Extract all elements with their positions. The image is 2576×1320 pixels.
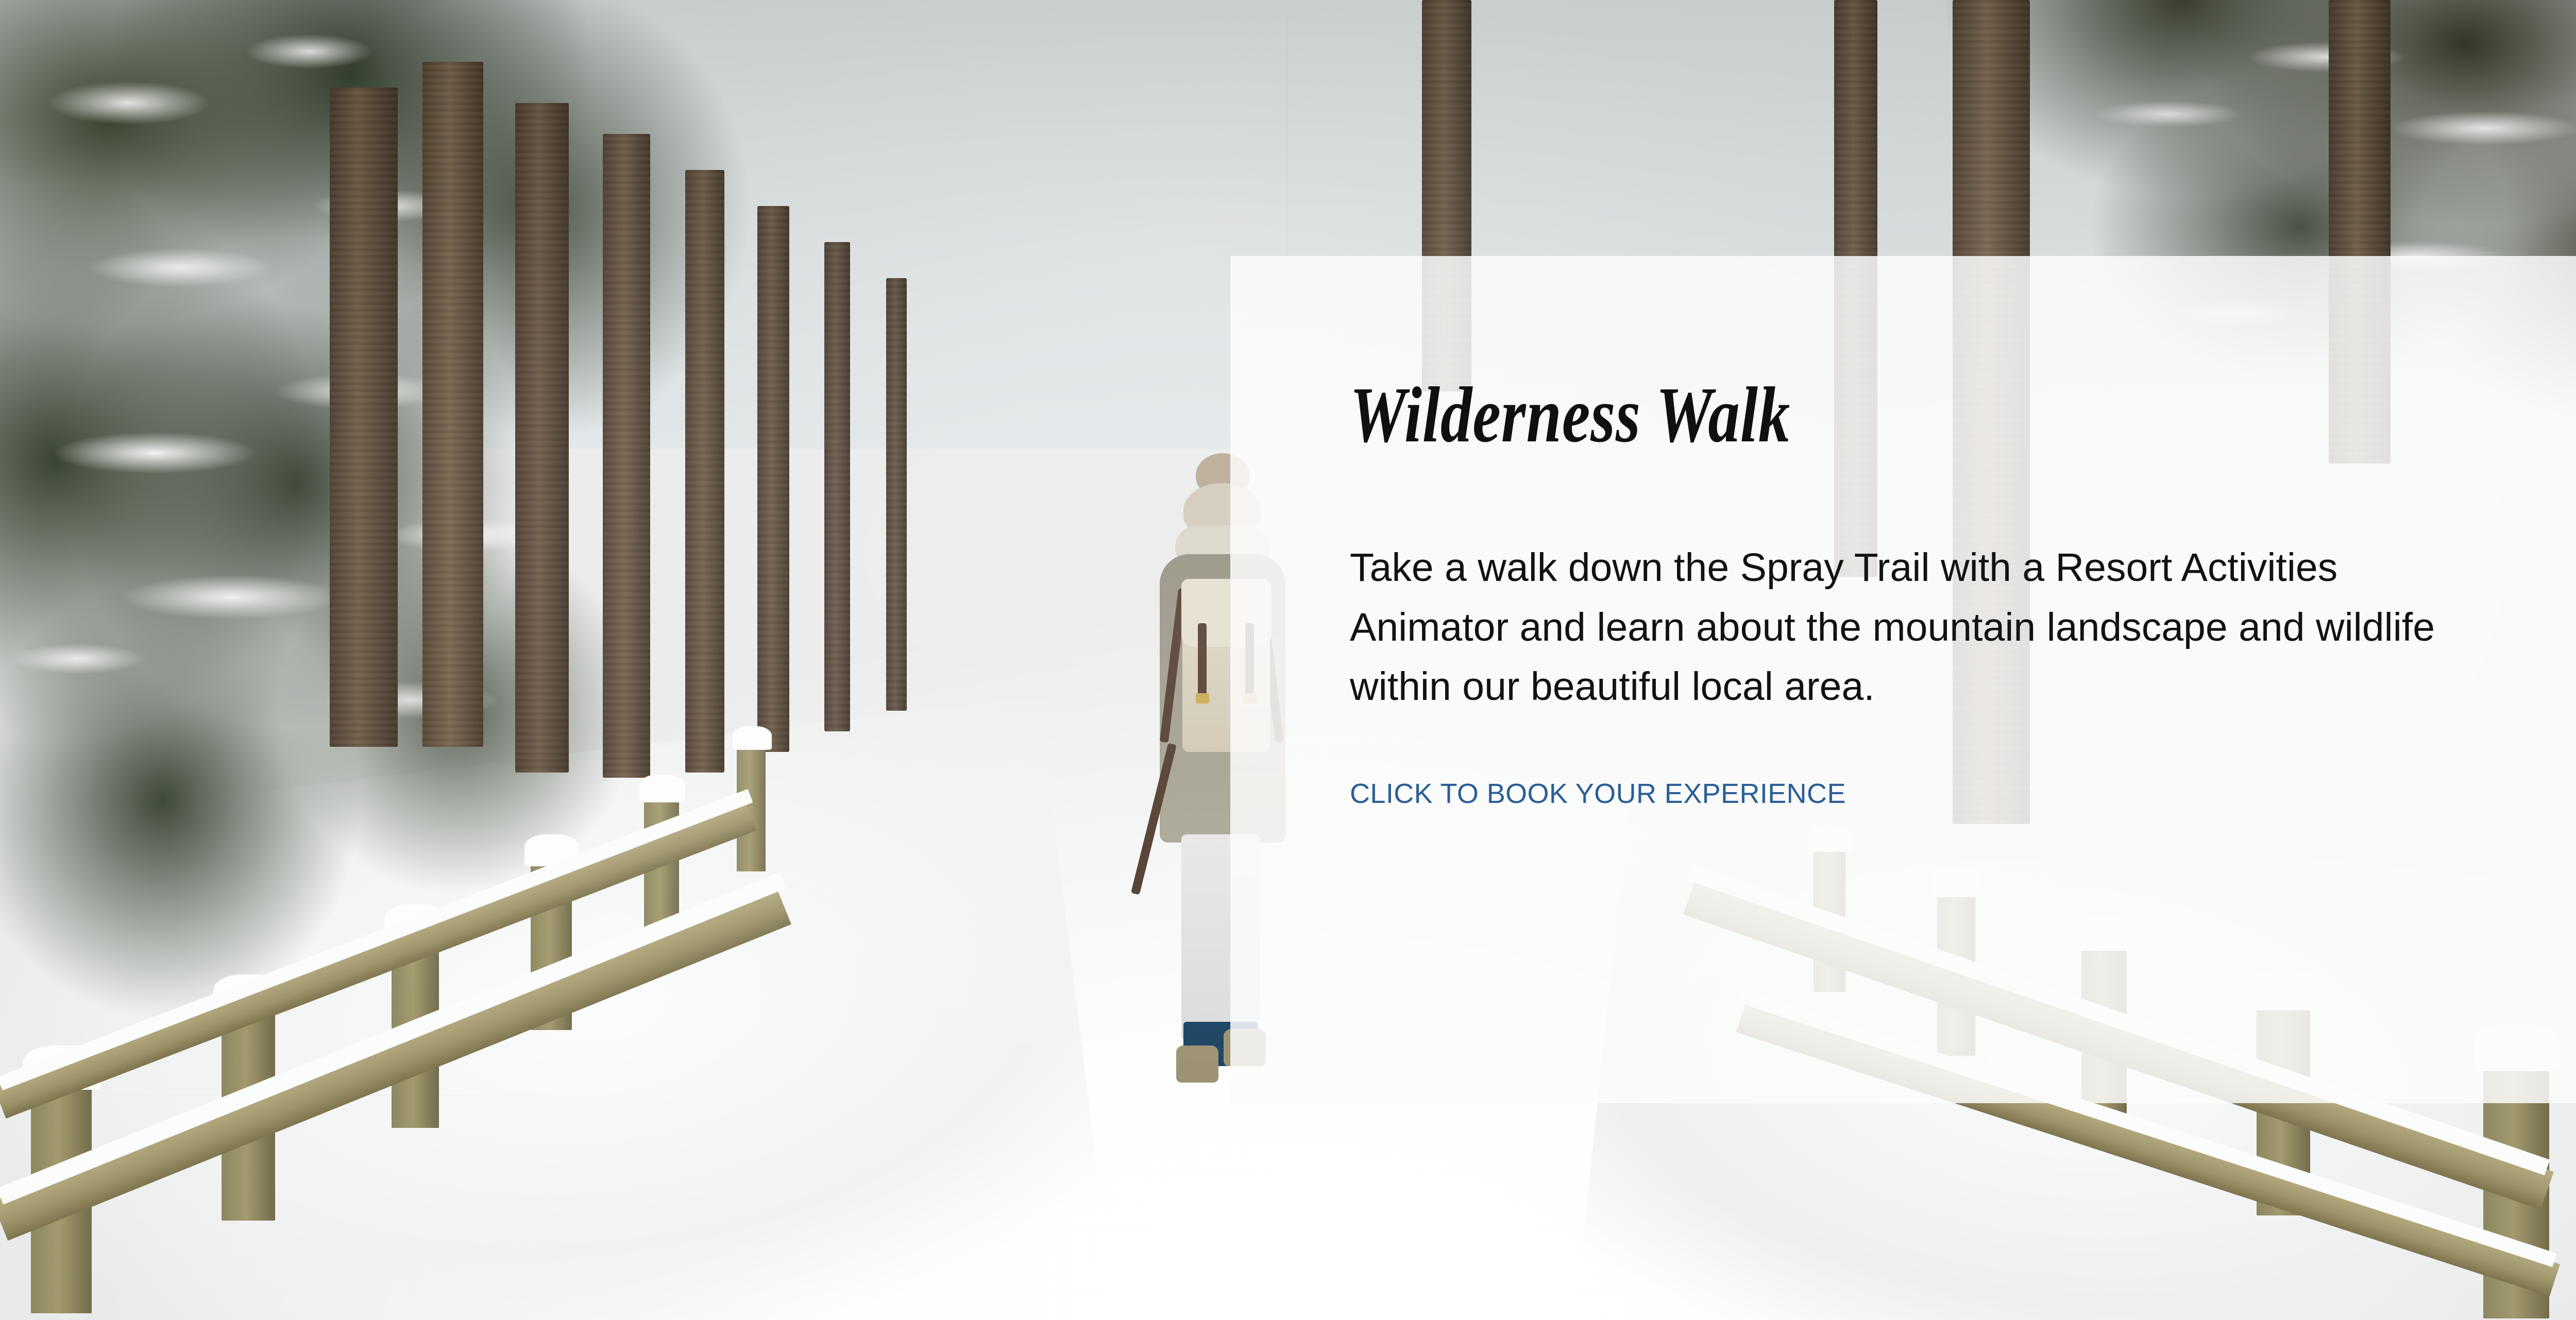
tree-trunk (515, 103, 569, 773)
tree-trunk (330, 88, 398, 747)
promo-description: Take a walk down the Spray Trail with a … (1350, 538, 2478, 717)
tree-trunk (757, 206, 789, 752)
fence-post-snow-cap (639, 775, 685, 802)
boot (1176, 1045, 1218, 1083)
tree-trunk (824, 242, 850, 731)
promo-card: Wilderness Walk Take a walk down the Spr… (1230, 256, 2576, 1103)
page-title: Wilderness Walk (1350, 375, 2331, 455)
backpack-buckle (1196, 693, 1209, 704)
fence-post-snow-cap (733, 726, 772, 750)
tree-trunk (422, 62, 483, 747)
hero-banner: Wilderness Walk Take a walk down the Spr… (0, 0, 2576, 1320)
book-experience-link[interactable]: CLICK TO BOOK YOUR EXPERIENCE (1350, 777, 1846, 812)
backpack-buckle-strap (1198, 623, 1207, 700)
tree-trunk (685, 170, 724, 773)
tree-trunk (886, 278, 907, 711)
tree-trunk (603, 134, 650, 778)
